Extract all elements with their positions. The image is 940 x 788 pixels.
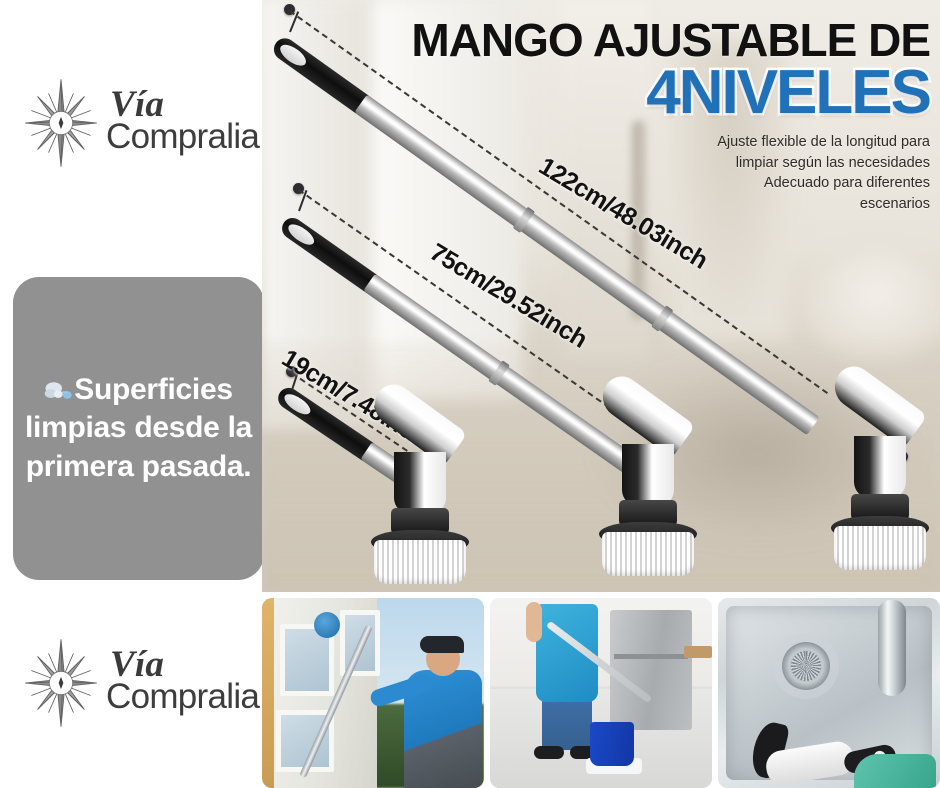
hero-description-line-1: Ajuste flexible de la longitud para <box>411 132 930 153</box>
brand-name-compralia: Compralia <box>106 681 259 713</box>
person-arm <box>526 602 542 642</box>
thumb-sink-rinse[interactable] <box>718 598 940 788</box>
scrubber-bristles <box>602 532 694 576</box>
house-trim <box>262 598 274 788</box>
benefit-callout-text: Superficies limpias desde la primera pas… <box>17 371 260 485</box>
hero-description-line-3: Adecuado para diferentes <box>411 173 930 194</box>
compass-star-rose-icon <box>22 635 100 731</box>
scrubber-elbow <box>394 452 446 514</box>
benefit-callout-box: Superficies limpias desde la primera pas… <box>13 277 264 580</box>
headline-accent: 4NIVELES <box>411 62 930 124</box>
hero-description-line-2: limpiar según las necesidades <box>411 153 930 174</box>
left-sidebar: Vía Compralia Superficies limpias desde … <box>0 0 262 788</box>
person-legs <box>542 698 592 750</box>
counter-edge <box>684 646 712 658</box>
brand-logo-top: Vía Compralia <box>22 70 247 176</box>
hero-description-line-4: escenarios <box>411 194 930 215</box>
thumbnail-strip <box>262 598 940 788</box>
scrubber-bristles <box>834 526 926 570</box>
compass-star-rose-icon <box>22 75 100 171</box>
refrigerator <box>610 610 692 730</box>
headline-primary: MANGO AJUSTABLE DE <box>411 16 930 64</box>
blue-bucket <box>590 722 634 766</box>
scrubber-brush-head <box>314 612 340 638</box>
drain-strainer <box>782 642 830 690</box>
hero-product-image: MANGO AJUSTABLE DE 4NIVELES Ajuste flexi… <box>262 0 940 592</box>
hero-description: Ajuste flexible de la longitud para limp… <box>411 132 930 214</box>
person-cap <box>420 636 464 653</box>
thumb-window-cleaning[interactable] <box>262 598 484 788</box>
hero-headline-block: MANGO AJUSTABLE DE 4NIVELES Ajuste flexi… <box>411 16 930 215</box>
person-shoe-left <box>534 746 564 759</box>
scrubber-elbow <box>622 444 674 506</box>
bubbles-dash-icon <box>44 377 74 403</box>
brand-logo-bottom: Vía Compralia <box>22 630 247 736</box>
scrubber-elbow <box>854 436 906 498</box>
brand-name-compralia: Compralia <box>106 121 259 153</box>
thumb-floor-mopping[interactable] <box>490 598 712 788</box>
cleaning-glove <box>854 754 936 788</box>
faucet <box>878 600 906 696</box>
scrubber-bristles <box>374 540 466 584</box>
